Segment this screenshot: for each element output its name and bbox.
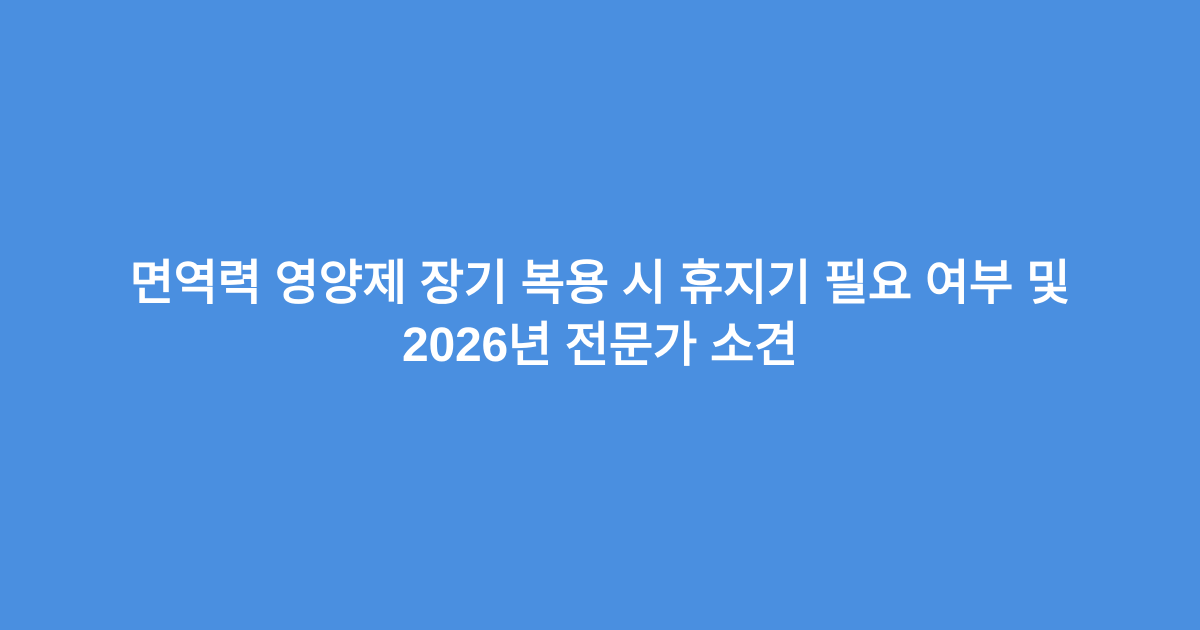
page-title: 면역력 영양제 장기 복용 시 휴지기 필요 여부 및 2026년 전문가 소견 xyxy=(72,253,1128,377)
page-title-line-1: 면역력 영양제 장기 복용 시 휴지기 필요 여부 및 xyxy=(130,253,1070,315)
og-image-card: 면역력 영양제 장기 복용 시 휴지기 필요 여부 및 2026년 전문가 소견 xyxy=(0,0,1200,630)
page-title-line-2: 2026년 전문가 소견 xyxy=(402,315,798,377)
